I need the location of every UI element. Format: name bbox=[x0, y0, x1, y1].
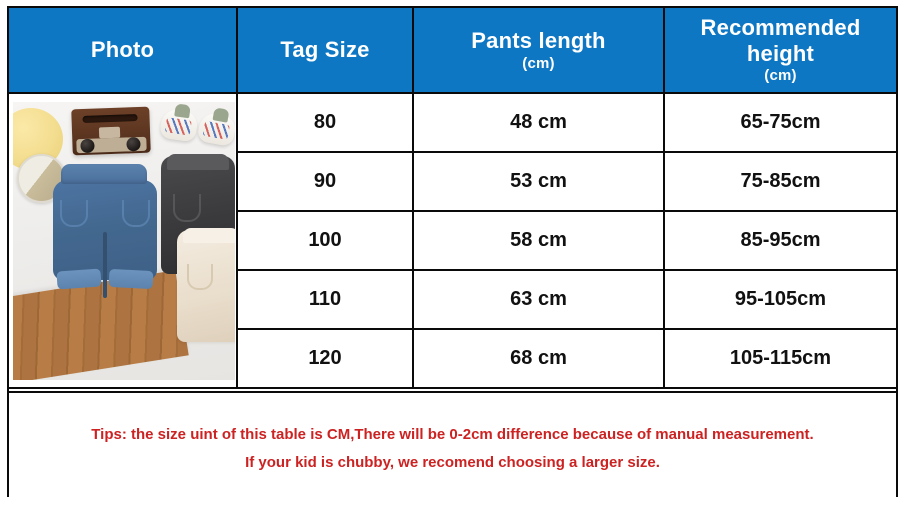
tips-line-2: If your kid is chubby, we recomend choos… bbox=[245, 453, 660, 473]
grey-jeans-pocket bbox=[173, 194, 201, 222]
column-header-tag-size-label: Tag Size bbox=[242, 37, 408, 63]
header-row: Photo Tag Size Pants length (cm) Recomme… bbox=[9, 8, 896, 93]
cell-recommended-height: 75-85cm bbox=[664, 152, 896, 211]
denim-pocket-right bbox=[122, 200, 150, 227]
wooden-box-badge bbox=[99, 127, 120, 139]
column-header-photo-label: Photo bbox=[13, 37, 232, 63]
cell-tag-size: 100 bbox=[237, 211, 413, 270]
cell-pants-length: 53 cm bbox=[413, 152, 664, 211]
size-chart-table: Photo Tag Size Pants length (cm) Recomme… bbox=[9, 8, 896, 389]
denim-inseam bbox=[103, 232, 107, 298]
table-header: Photo Tag Size Pants length (cm) Recomme… bbox=[9, 8, 896, 93]
sneaker-collar bbox=[212, 107, 229, 122]
column-header-tag-size: Tag Size bbox=[237, 8, 413, 93]
cream-pants-pocket bbox=[187, 264, 213, 290]
denim-pocket-left bbox=[60, 200, 88, 227]
table-body: 80 48 cm 65-75cm 90 53 cm 75-85cm 100 58… bbox=[9, 93, 896, 388]
denim-body bbox=[53, 180, 157, 280]
product-photo-cell bbox=[9, 93, 237, 388]
column-header-pants-length-label: Pants length bbox=[418, 28, 659, 54]
cell-pants-length: 63 cm bbox=[413, 270, 664, 329]
grey-jeans-waistband bbox=[167, 154, 229, 170]
cream-pants bbox=[177, 230, 235, 342]
cell-tag-size: 120 bbox=[237, 329, 413, 388]
column-header-recommended-height-unit: (cm) bbox=[764, 67, 796, 84]
denim-cuff-right bbox=[109, 269, 154, 289]
cream-pants-waistband bbox=[183, 228, 235, 243]
column-header-pants-length-unit: (cm) bbox=[418, 55, 659, 72]
cell-recommended-height: 65-75cm bbox=[664, 93, 896, 152]
sneaker-pattern bbox=[165, 117, 192, 135]
column-header-recommended-height-label: Recommended height bbox=[669, 15, 892, 67]
sneaker-collar bbox=[174, 103, 191, 118]
cell-tag-size: 110 bbox=[237, 270, 413, 329]
column-header-photo: Photo bbox=[9, 8, 237, 93]
denim-waistband bbox=[61, 164, 147, 184]
denim-cuff-left bbox=[56, 268, 101, 289]
tips-section: Tips: the size uint of this table is CM,… bbox=[9, 391, 896, 497]
wooden-box bbox=[71, 107, 151, 156]
cell-pants-length: 68 cm bbox=[413, 329, 664, 388]
cell-tag-size: 80 bbox=[237, 93, 413, 152]
tips-line-1: Tips: the size uint of this table is CM,… bbox=[91, 425, 813, 445]
wooden-box-slot bbox=[82, 114, 137, 123]
column-header-pants-length: Pants length (cm) bbox=[413, 8, 664, 93]
size-chart-container: Photo Tag Size Pants length (cm) Recomme… bbox=[7, 6, 898, 497]
cell-recommended-height: 105-115cm bbox=[664, 329, 896, 388]
blue-denim-jeans bbox=[51, 164, 159, 296]
product-photo bbox=[13, 102, 235, 380]
column-header-recommended-height: Recommended height (cm) bbox=[664, 8, 896, 93]
size-chart-page: Photo Tag Size Pants length (cm) Recomme… bbox=[0, 0, 910, 505]
cell-pants-length: 48 cm bbox=[413, 93, 664, 152]
cell-tag-size: 90 bbox=[237, 152, 413, 211]
sneaker-pattern bbox=[203, 121, 230, 140]
cell-recommended-height: 95-105cm bbox=[664, 270, 896, 329]
table-row: 80 48 cm 65-75cm bbox=[9, 93, 896, 152]
cell-recommended-height: 85-95cm bbox=[664, 211, 896, 270]
cell-pants-length: 58 cm bbox=[413, 211, 664, 270]
